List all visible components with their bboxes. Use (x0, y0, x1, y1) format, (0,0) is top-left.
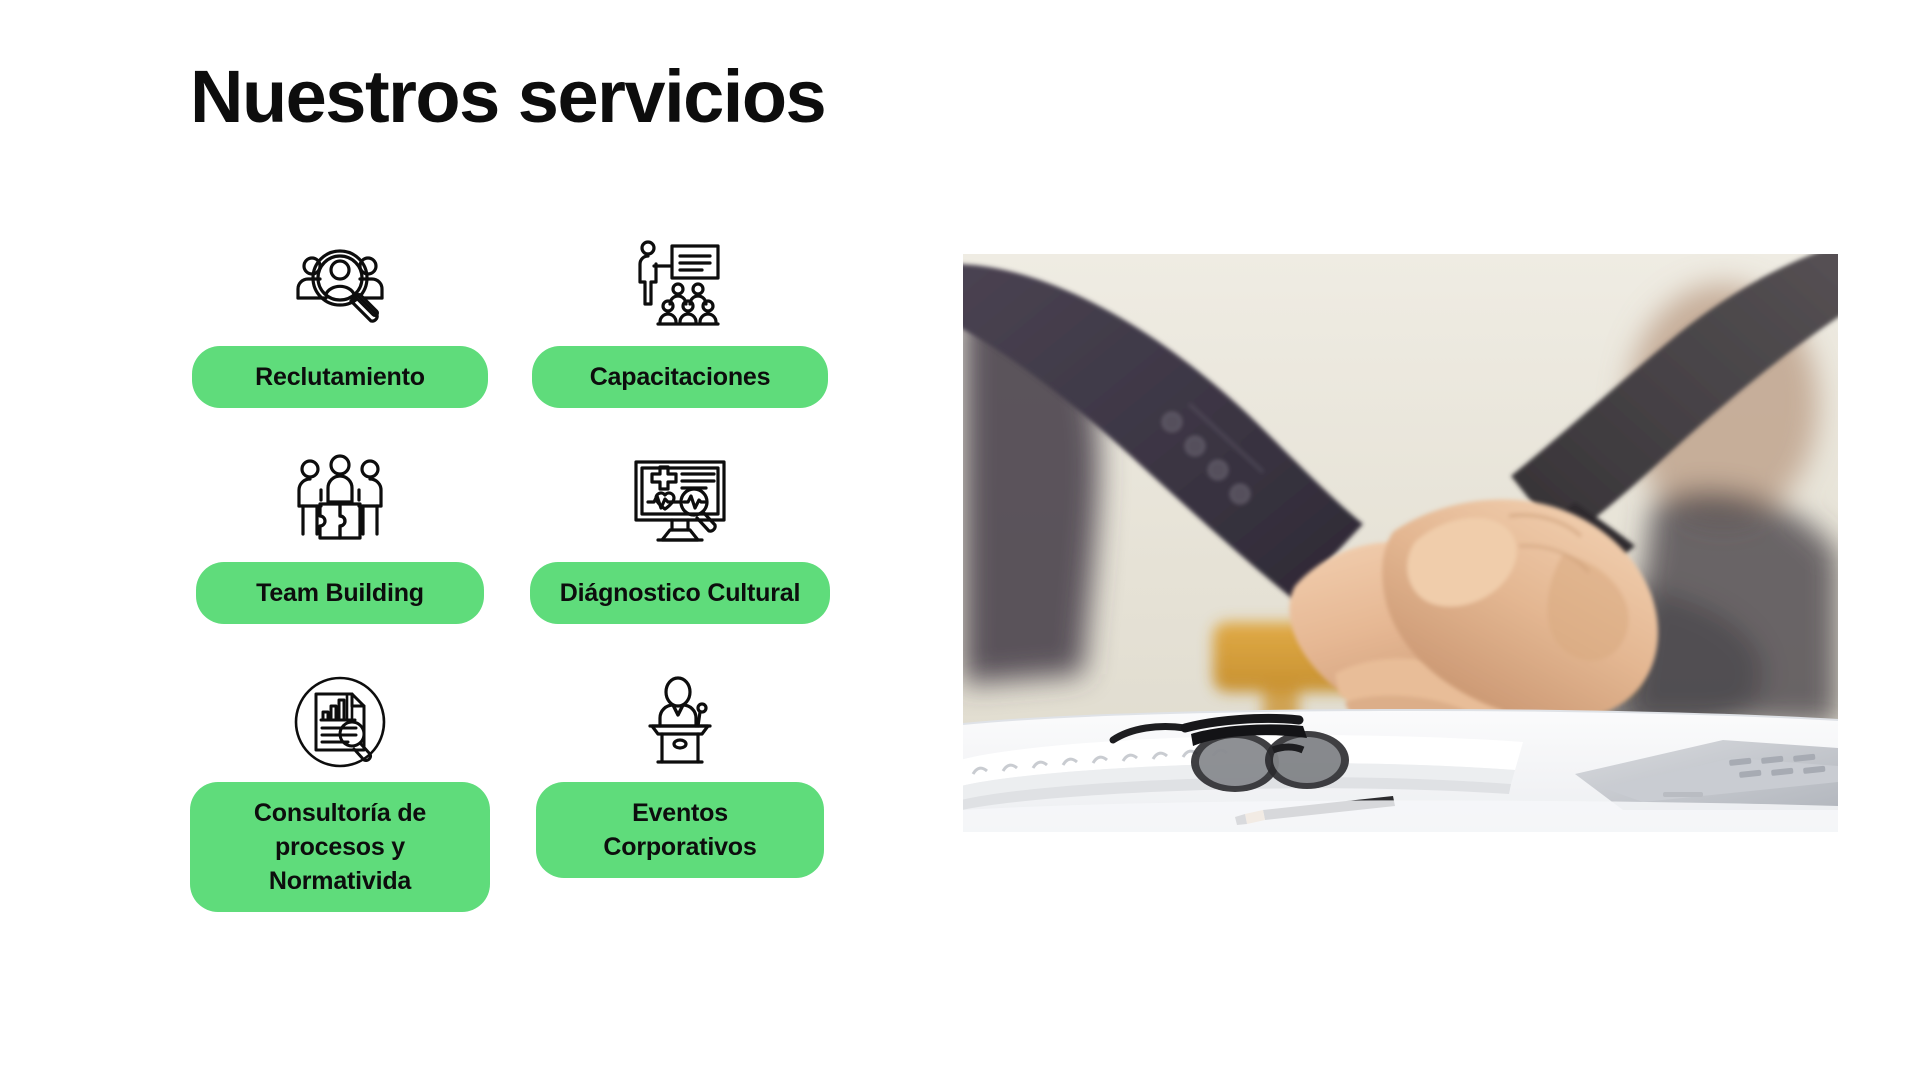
services-row-2: Team Building (190, 444, 910, 624)
service-item-team-building[interactable]: Team Building (190, 444, 490, 624)
service-pill-line: Eventos (632, 799, 728, 827)
service-pill-capacitaciones[interactable]: Capacitaciones (532, 346, 828, 408)
document-chart-magnifier-icon (286, 664, 394, 772)
row-spacer-2 (190, 624, 910, 664)
service-item-reclutamiento[interactable]: Reclutamiento (190, 228, 490, 408)
services-row-3: Consultoría de procesos y Normativida (190, 664, 910, 912)
business-handshake-photo (963, 254, 1838, 832)
services-row-1: Reclutamiento (190, 228, 910, 408)
people-search-icon (286, 228, 394, 336)
monitor-health-analysis-icon (626, 444, 734, 552)
service-pill-line: Normativida (269, 867, 411, 895)
service-item-capacitaciones[interactable]: Capacitaciones (530, 228, 830, 408)
service-pill-line: procesos y (275, 833, 405, 861)
service-item-diagnostico-cultural[interactable]: Diágnostico Cultural (530, 444, 830, 624)
service-pill-diagnostico-cultural[interactable]: Diágnostico Cultural (530, 562, 830, 624)
service-pill-line: Corporativos (603, 833, 756, 861)
service-pill-team-building[interactable]: Team Building (196, 562, 484, 624)
podium-speaker-icon (626, 664, 734, 772)
service-item-consultoria[interactable]: Consultoría de procesos y Normativida (190, 664, 490, 912)
service-pill-line: Consultoría de (254, 799, 426, 827)
service-pill-eventos-corporativos[interactable]: Eventos Corporativos (536, 782, 824, 878)
team-puzzle-icon (286, 444, 394, 552)
page-title: Nuestros servicios (190, 60, 825, 134)
slide-root: Nuestros servicios (0, 0, 1920, 1080)
service-item-eventos-corporativos[interactable]: Eventos Corporativos (530, 664, 830, 878)
service-pill-consultoria[interactable]: Consultoría de procesos y Normativida (190, 782, 490, 912)
services-grid: Reclutamiento (190, 228, 910, 912)
row-spacer-1 (190, 408, 910, 444)
presenter-board-audience-icon (626, 228, 734, 336)
service-pill-reclutamiento[interactable]: Reclutamiento (192, 346, 488, 408)
